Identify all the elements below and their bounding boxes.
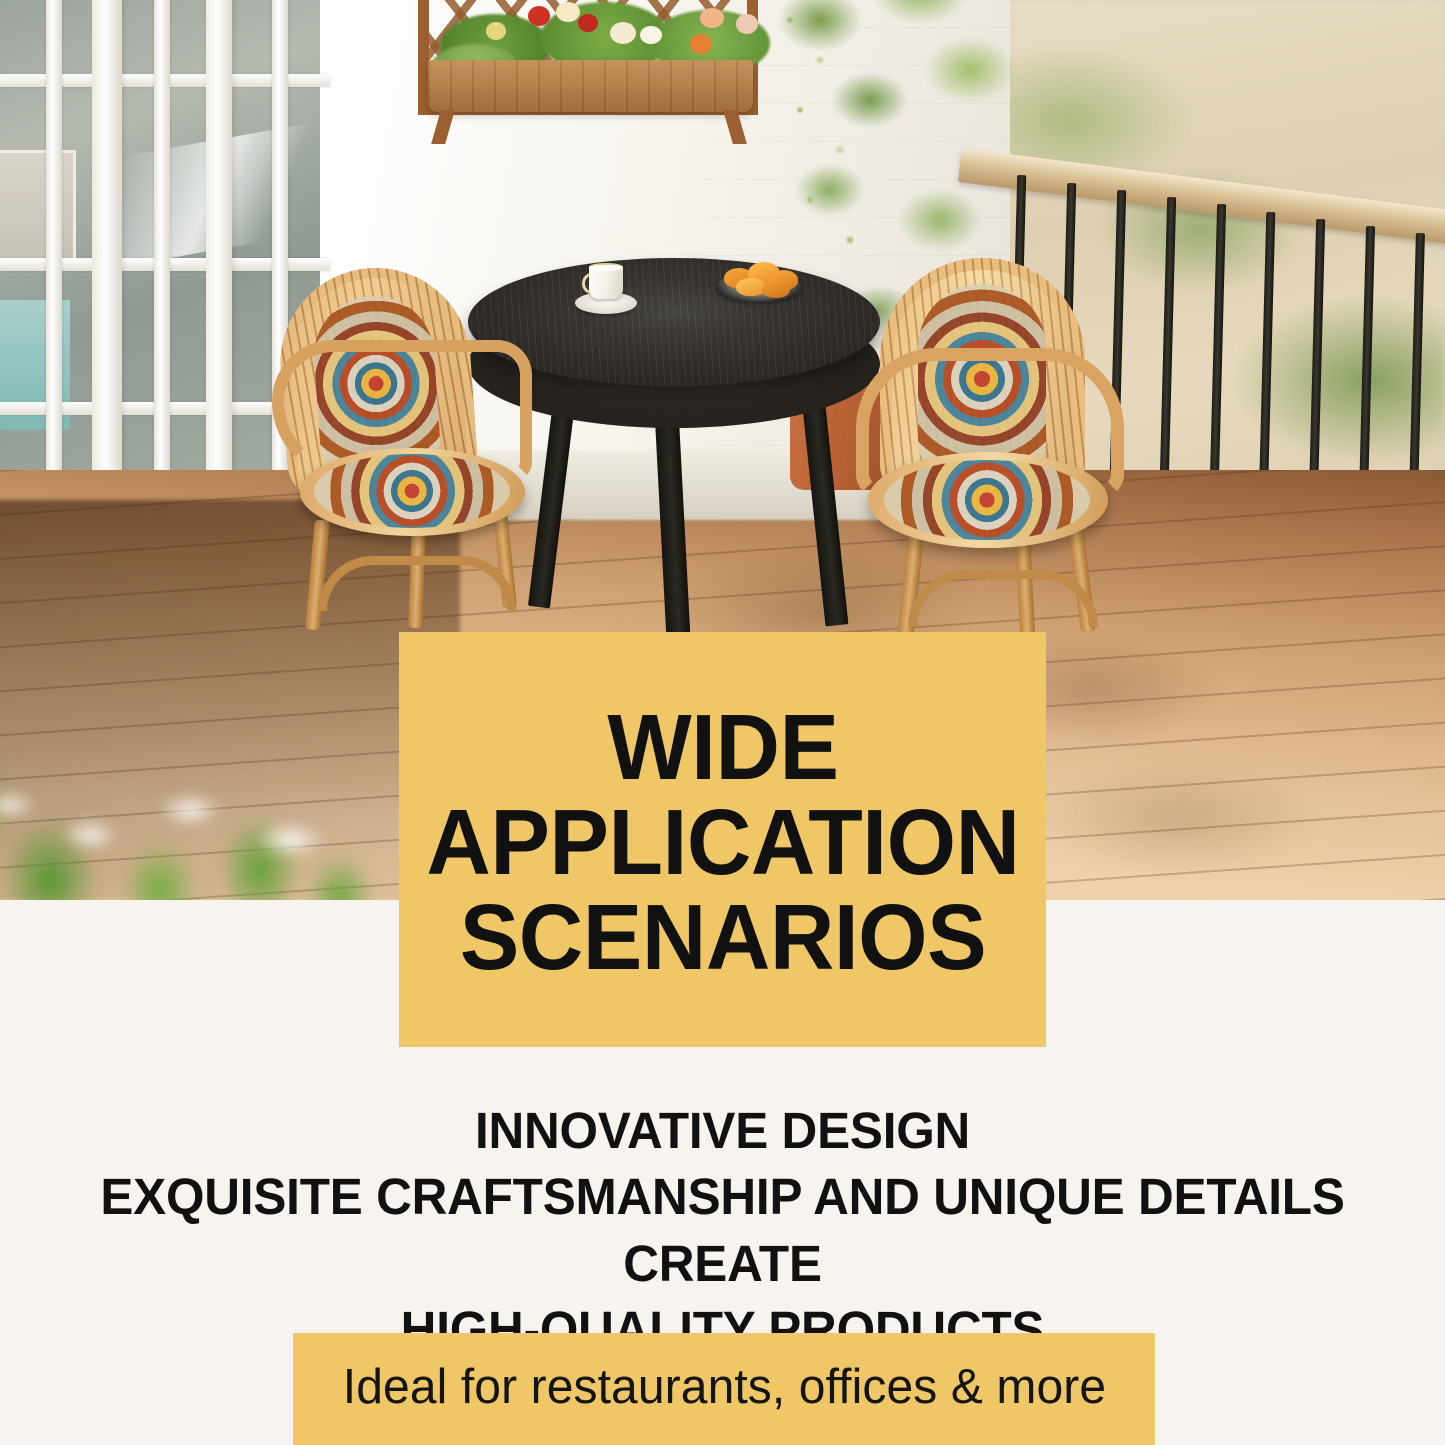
flower-red-1	[528, 6, 550, 26]
flower-peach-1	[700, 8, 724, 28]
flower-pink-1	[736, 14, 758, 34]
headline-line-2: APPLICATION	[426, 795, 1019, 890]
body-line-1: INNOVATIVE DESIGN	[22, 1098, 1424, 1164]
left-chair-seat-pattern	[314, 454, 510, 528]
right-chair-stretcher	[908, 570, 1098, 627]
headline-line-3: SCENARIOS	[426, 890, 1019, 985]
right-chair-seat-pattern	[884, 460, 1090, 540]
foreground-plant	[0, 690, 390, 900]
body-line-2: EXQUISITE CRAFTSMANSHIP AND UNIQUE DETAI…	[22, 1164, 1424, 1297]
flower-red-2	[578, 14, 598, 32]
tagline-text: Ideal for restaurants, offices & more	[342, 1359, 1105, 1415]
flower-white-1	[640, 26, 662, 44]
flower-orange-1	[690, 34, 712, 54]
pastry-5	[762, 280, 790, 298]
wooden-flower-box	[428, 60, 753, 112]
page-title: WIDE APPLICATION SCENARIOS	[426, 700, 1019, 985]
tagline-banner: Ideal for restaurants, offices & more	[293, 1333, 1155, 1445]
headline-banner: WIDE APPLICATION SCENARIOS	[399, 632, 1046, 1047]
left-chair-seat	[300, 448, 525, 536]
left-chair-stretcher	[318, 556, 516, 611]
cup-rim	[589, 263, 623, 271]
marketing-banner: WIDE APPLICATION SCENARIOS INNOVATIVE DE…	[0, 0, 1445, 1445]
flower-cream-2	[610, 22, 636, 44]
headline-line-1: WIDE	[426, 700, 1019, 795]
flower-box-grain	[428, 60, 753, 112]
right-chair-seat	[868, 452, 1108, 548]
body-copy: INNOVATIVE DESIGN EXQUISITE CRAFTSMANSHI…	[0, 1098, 1445, 1363]
flower-yellow-1	[486, 22, 506, 40]
flower-cream-1	[556, 2, 580, 22]
